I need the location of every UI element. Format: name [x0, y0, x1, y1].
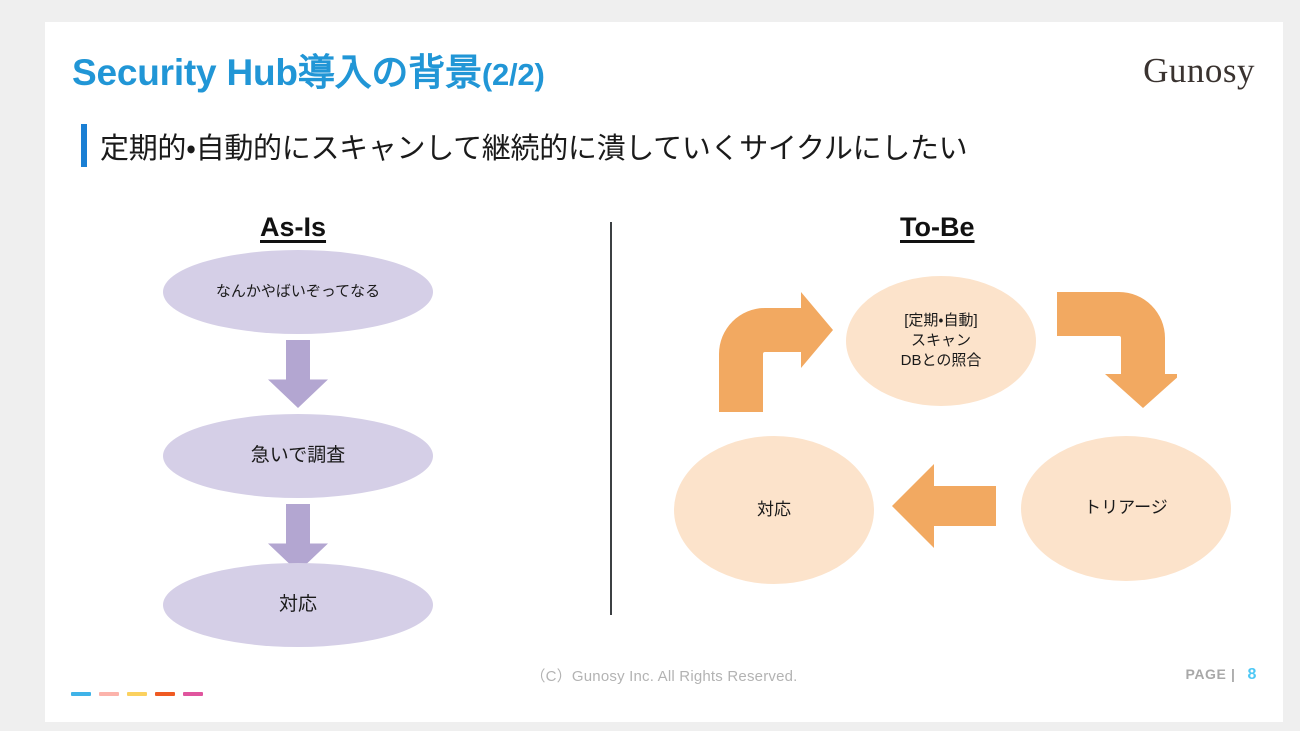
to-be-arrow-left-icon	[890, 460, 998, 552]
footer-page-indicator: PAGE |8	[1185, 666, 1257, 684]
to-be-node-scan-line2: スキャン	[911, 332, 971, 349]
to-be-arrow-up-right-icon	[717, 290, 835, 412]
as-is-node-1: なんかやばいぞってなる	[163, 250, 433, 334]
footer-color-swatches	[71, 692, 203, 696]
gunosy-logo: Gunosy	[1143, 51, 1255, 91]
footer-page-label: PAGE |	[1185, 666, 1235, 682]
swatch-5	[183, 692, 203, 696]
to-be-node-scan-label: [定期・自動] スキャン DBとの照合	[901, 311, 982, 372]
page-title-main: Security Hub導入の背景	[72, 52, 482, 93]
to-be-node-scan: [定期・自動] スキャン DBとの照合	[846, 276, 1036, 406]
as-is-arrow-2-icon	[268, 504, 328, 572]
column-divider	[610, 222, 612, 615]
subtitle-text: 定期的・自動的にスキャンして継続的に潰していくサイクルにしたい	[100, 125, 967, 167]
page-title-fraction: (2/2)	[482, 57, 545, 92]
as-is-node-3-label: 対応	[279, 592, 317, 618]
as-is-arrow-1-icon	[268, 340, 328, 408]
to-be-node-scan-line1: [定期・自動]	[904, 312, 977, 329]
swatch-1	[71, 692, 91, 696]
to-be-arrow-right-down-icon	[1057, 290, 1177, 420]
footer-copyright: （C）Gunosy Inc. All Rights Reserved.	[45, 665, 1283, 686]
as-is-node-3: 対応	[163, 563, 433, 647]
swatch-2	[99, 692, 119, 696]
to-be-node-triage-label: トリアージ	[1084, 497, 1168, 520]
to-be-node-scan-line3: DBとの照合	[901, 352, 982, 369]
as-is-node-2-label: 急いで調査	[251, 443, 345, 469]
page-title: Security Hub導入の背景(2/2)	[72, 42, 545, 96]
swatch-3	[127, 692, 147, 696]
to-be-node-triage: トリアージ	[1021, 436, 1231, 581]
subtitle: 定期的・自動的にスキャンして継続的に潰していくサイクルにしたい	[81, 124, 967, 167]
to-be-node-response: 対応	[674, 436, 874, 584]
slide-canvas: Security Hub導入の背景(2/2) Gunosy 定期的・自動的にスキ…	[45, 22, 1283, 722]
to-be-node-response-label: 対応	[757, 499, 791, 522]
to-be-header: To-Be	[900, 212, 975, 243]
as-is-header: As-Is	[260, 212, 326, 243]
as-is-node-1-label: なんかやばいぞってなる	[196, 282, 401, 302]
as-is-node-2: 急いで調査	[163, 414, 433, 498]
footer-page-number: 8	[1248, 666, 1258, 683]
subtitle-accent-bar	[81, 124, 87, 167]
swatch-4	[155, 692, 175, 696]
